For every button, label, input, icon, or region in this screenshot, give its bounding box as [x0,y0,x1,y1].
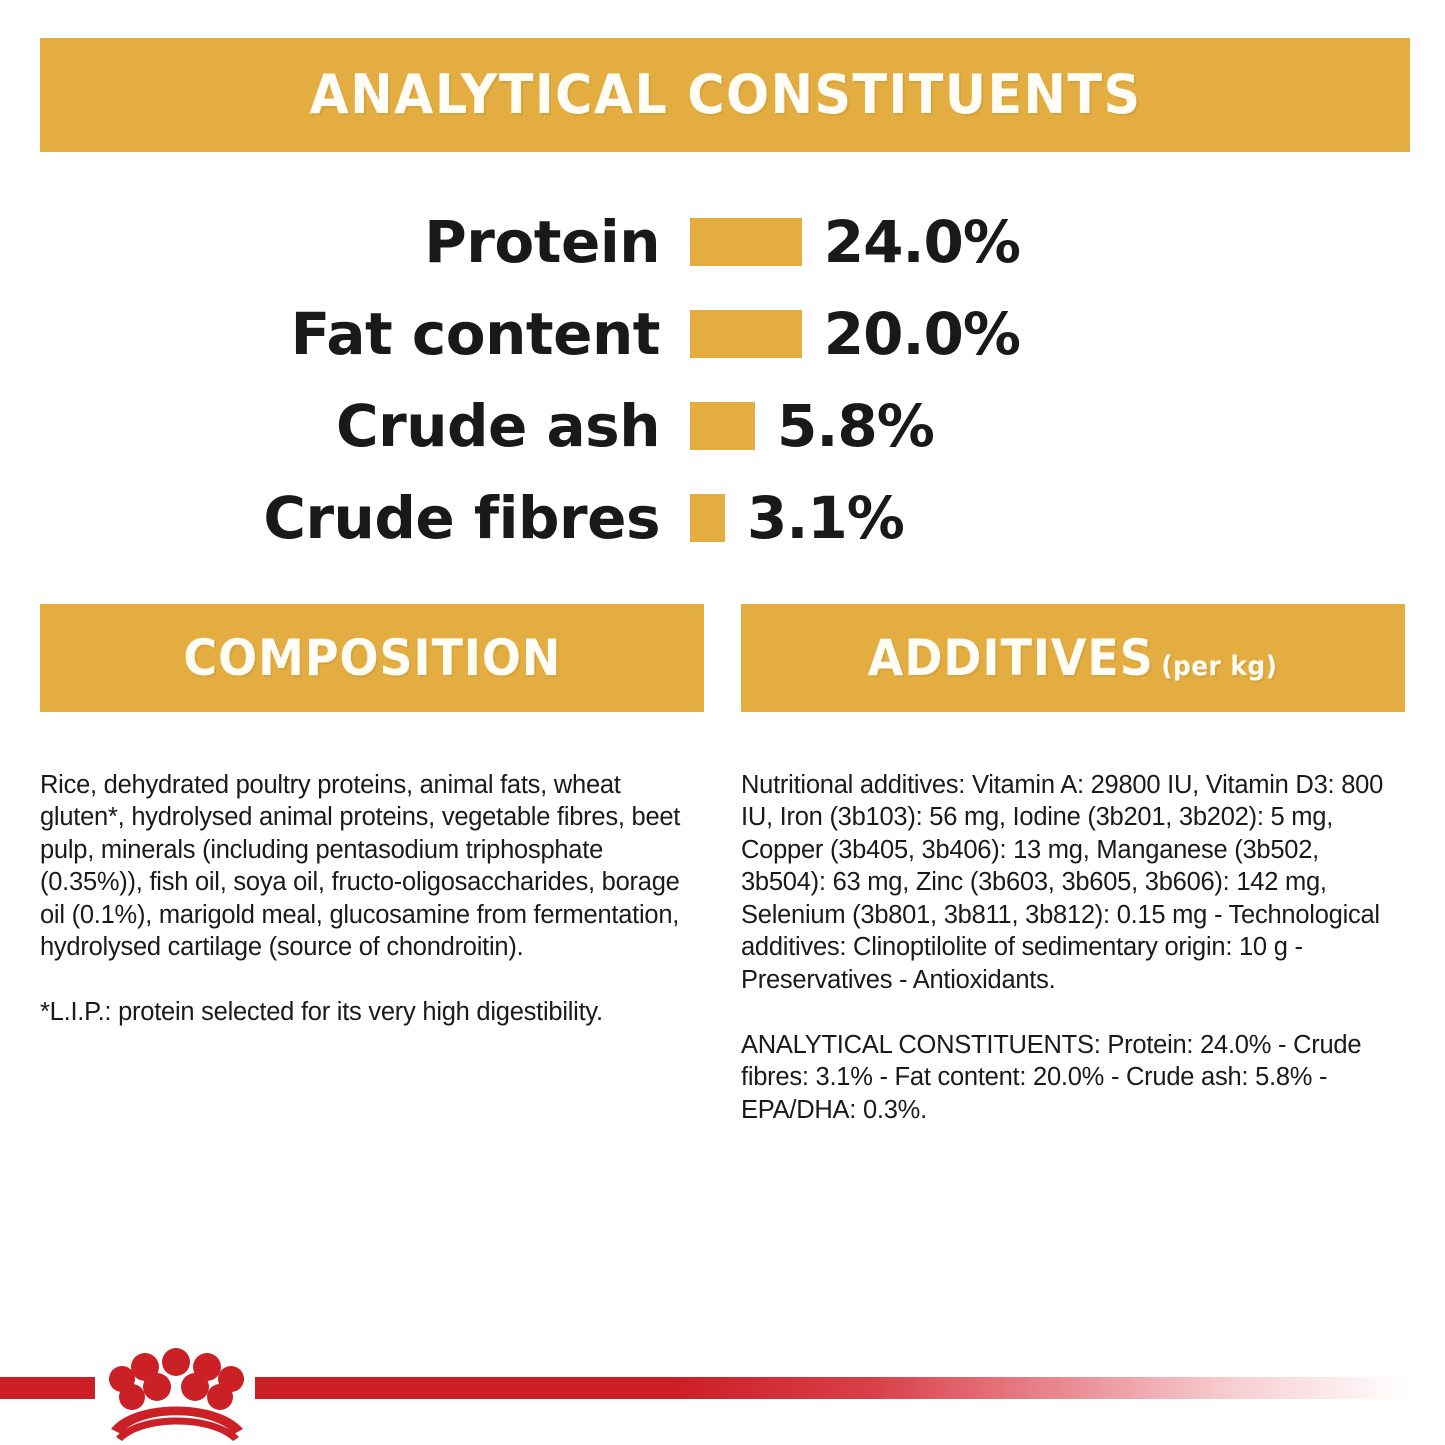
brand-rule-right [255,1377,1445,1399]
analytical-constituents-header-band: ANALYTICAL CONSTITUENTS [40,38,1410,152]
chart-value-fat-content: 20.0% [824,305,1020,363]
additives-section: ADDITIVES(per kg) Nutritional additives:… [741,604,1405,1159]
chart-label-fat-content: Fat content [0,305,690,363]
chart-bar-wrap-protein: 24.0% [690,213,1020,271]
chart-value-crude-ash: 5.8% [777,397,934,455]
chart-row-crude-fibres: Crude fibres 3.1% [0,472,1445,564]
additives-paragraph-1: Nutritional additives: Vitamin A: 29800 … [741,769,1405,997]
composition-heading: COMPOSITION [183,633,561,683]
page-title: ANALYTICAL CONSTITUENTS [309,68,1141,122]
additives-body: Nutritional additives: Vitamin A: 29800 … [741,736,1405,1159]
royal-canin-crown-icon [100,1335,255,1445]
additives-heading-unit: (per kg) [1162,651,1278,682]
brand-footer [0,1335,1445,1445]
composition-body: Rice, dehydrated poultry proteins, anima… [40,736,704,1061]
chart-bar-wrap-fat-content: 20.0% [690,305,1020,363]
composition-paragraph-1: Rice, dehydrated poultry proteins, anima… [40,769,704,964]
chart-label-protein: Protein [0,213,690,271]
analytical-constituents-chart: Protein 24.0% Fat content 20.0% Crude as… [0,196,1445,566]
composition-paragraph-2: *L.I.P.: protein selected for its very h… [40,996,704,1029]
additives-heading-text: ADDITIVES [868,629,1154,687]
chart-row-crude-ash: Crude ash 5.8% [0,380,1445,472]
chart-row-fat-content: Fat content 20.0% [0,288,1445,380]
brand-rule-left [0,1377,95,1399]
composition-header-band: COMPOSITION [40,604,704,712]
chart-bar-wrap-crude-ash: 5.8% [690,397,1020,455]
chart-value-protein: 24.0% [824,213,1020,271]
chart-bar-crude-fibres [690,494,725,542]
chart-label-crude-ash: Crude ash [0,397,690,455]
chart-bar-protein [690,218,802,266]
chart-label-crude-fibres: Crude fibres [0,489,690,547]
chart-bar-crude-ash [690,402,755,450]
additives-heading: ADDITIVES(per kg) [868,633,1278,683]
additives-paragraph-2: ANALYTICAL CONSTITUENTS: Protein: 24.0% … [741,1029,1405,1127]
chart-bar-fat-content [690,310,802,358]
chart-row-protein: Protein 24.0% [0,196,1445,288]
chart-value-crude-fibres: 3.1% [747,489,904,547]
additives-header-band: ADDITIVES(per kg) [741,604,1405,712]
chart-bar-wrap-crude-fibres: 3.1% [690,489,1020,547]
composition-section: COMPOSITION Rice, dehydrated poultry pro… [40,604,704,1061]
